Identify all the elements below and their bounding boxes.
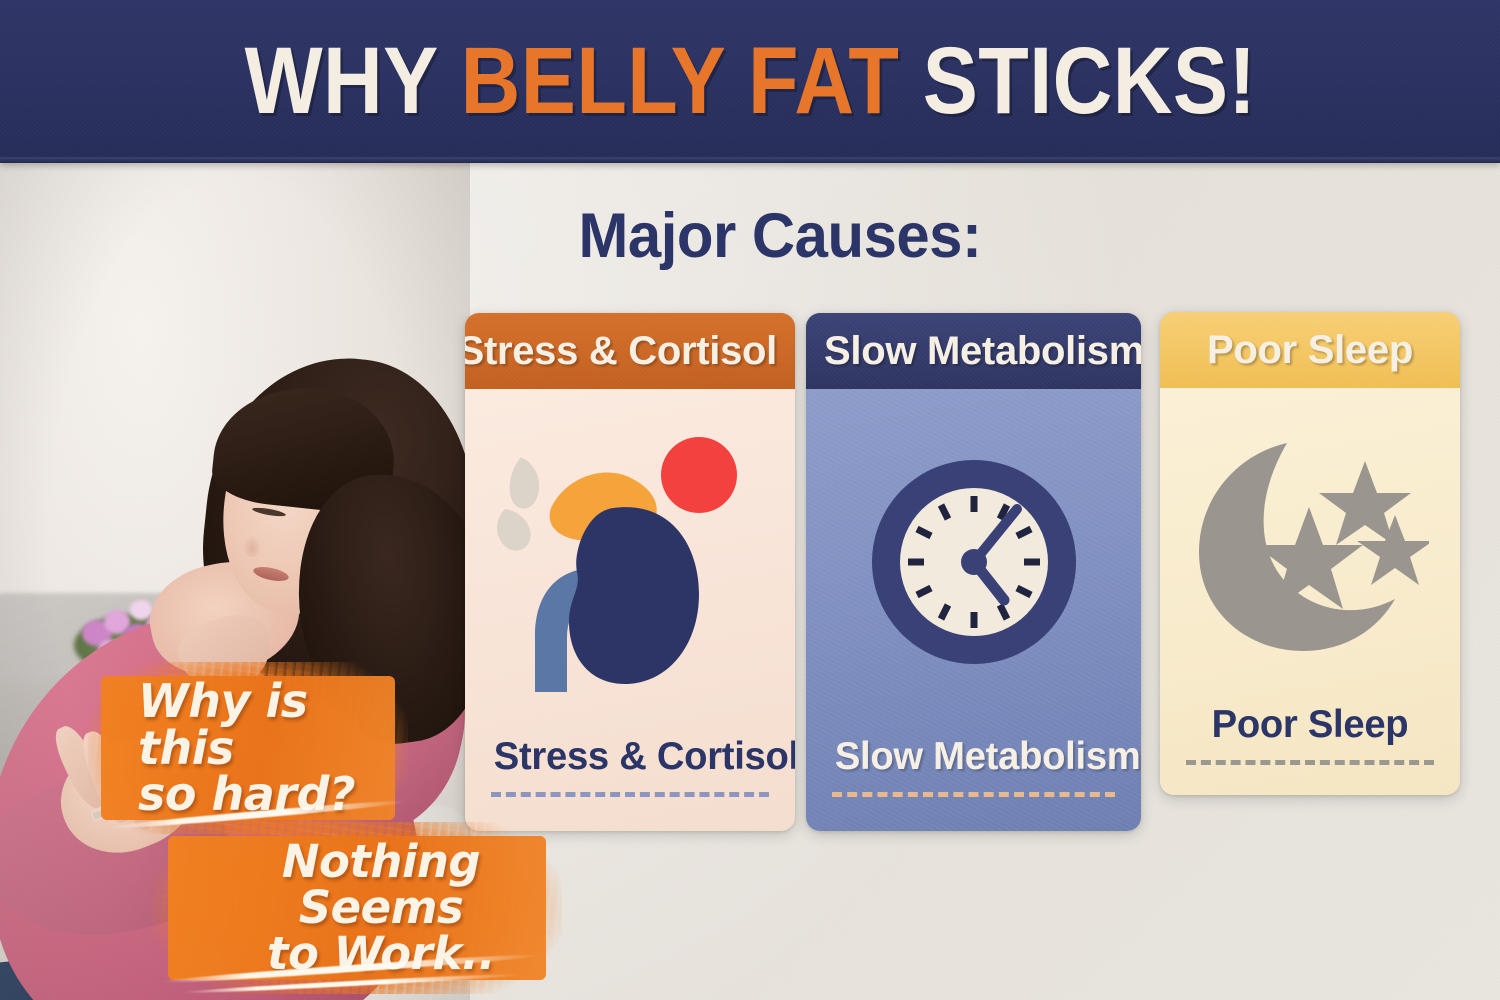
card-footer-divider (491, 792, 769, 797)
card-footer-label: Poor Sleep (1188, 703, 1431, 747)
callout-line-1: Nothing Seems (200, 839, 562, 931)
card-body-stress-cortisol: Stress & Cortisol (465, 389, 795, 831)
title-segment-why: WHY (244, 28, 460, 134)
adrenal-kidney-icon (485, 422, 775, 702)
title-segment-sticks: STICKS! (922, 28, 1256, 134)
icon-container (806, 389, 1141, 735)
clock-icon (864, 452, 1084, 672)
cause-card-poor-sleep[interactable]: Poor Sleep Poor Sleep (1160, 312, 1460, 795)
icon-container (465, 389, 795, 735)
clock-center-pin (961, 549, 987, 575)
card-header-slow-metabolism: Slow Metabolism (806, 313, 1141, 389)
moon-stars-icon (1191, 435, 1429, 657)
header-banner: WHY BELLY FAT STICKS! (0, 0, 1500, 163)
card-footer-divider (1186, 760, 1434, 765)
sweat-drop-icon (495, 455, 544, 553)
kidney-shape (569, 507, 699, 684)
card-header-stress-cortisol: Stress & Cortisol (465, 313, 795, 389)
card-header-label: Slow Metabolism (824, 329, 1141, 374)
card-body-slow-metabolism: Slow Metabolism (806, 389, 1141, 831)
callout-why-is-this-so-hard: Why is this so hard? (88, 662, 408, 834)
infographic-canvas: Woman in pink top sitting on sofa holdin… (0, 0, 1500, 1000)
card-footer-slow-metabolism: Slow Metabolism (806, 735, 1141, 831)
callout-line-1: Why is this (138, 678, 408, 772)
card-footer-label: Slow Metabolism (835, 735, 1112, 779)
callout-nothing-seems-to-work: Nothing Seems to Work.. (152, 822, 562, 994)
card-footer-stress-cortisol: Stress & Cortisol (465, 735, 795, 831)
card-body-poor-sleep: Poor Sleep (1160, 388, 1460, 795)
card-header-label: Stress & Cortisol (465, 329, 777, 374)
alert-dot-icon (661, 437, 737, 513)
icon-container (1160, 388, 1460, 703)
card-footer-poor-sleep: Poor Sleep (1160, 703, 1460, 795)
card-header-label: Poor Sleep (1207, 328, 1413, 373)
page-title: WHY BELLY FAT STICKS! (244, 34, 1256, 129)
card-footer-label: Stress & Cortisol (494, 735, 766, 779)
card-header-poor-sleep: Poor Sleep (1160, 312, 1460, 388)
banner-bottom-rule (0, 157, 1500, 163)
callout-text: Why is this so hard? (88, 678, 408, 819)
card-footer-divider (832, 792, 1115, 797)
title-segment-belly-fat: BELLY FAT (460, 28, 922, 134)
section-heading: Major Causes: (486, 200, 1075, 272)
cause-card-slow-metabolism[interactable]: Slow Metabolism (806, 313, 1141, 831)
cause-card-stress-cortisol[interactable]: Stress & Cortisol (465, 313, 795, 831)
